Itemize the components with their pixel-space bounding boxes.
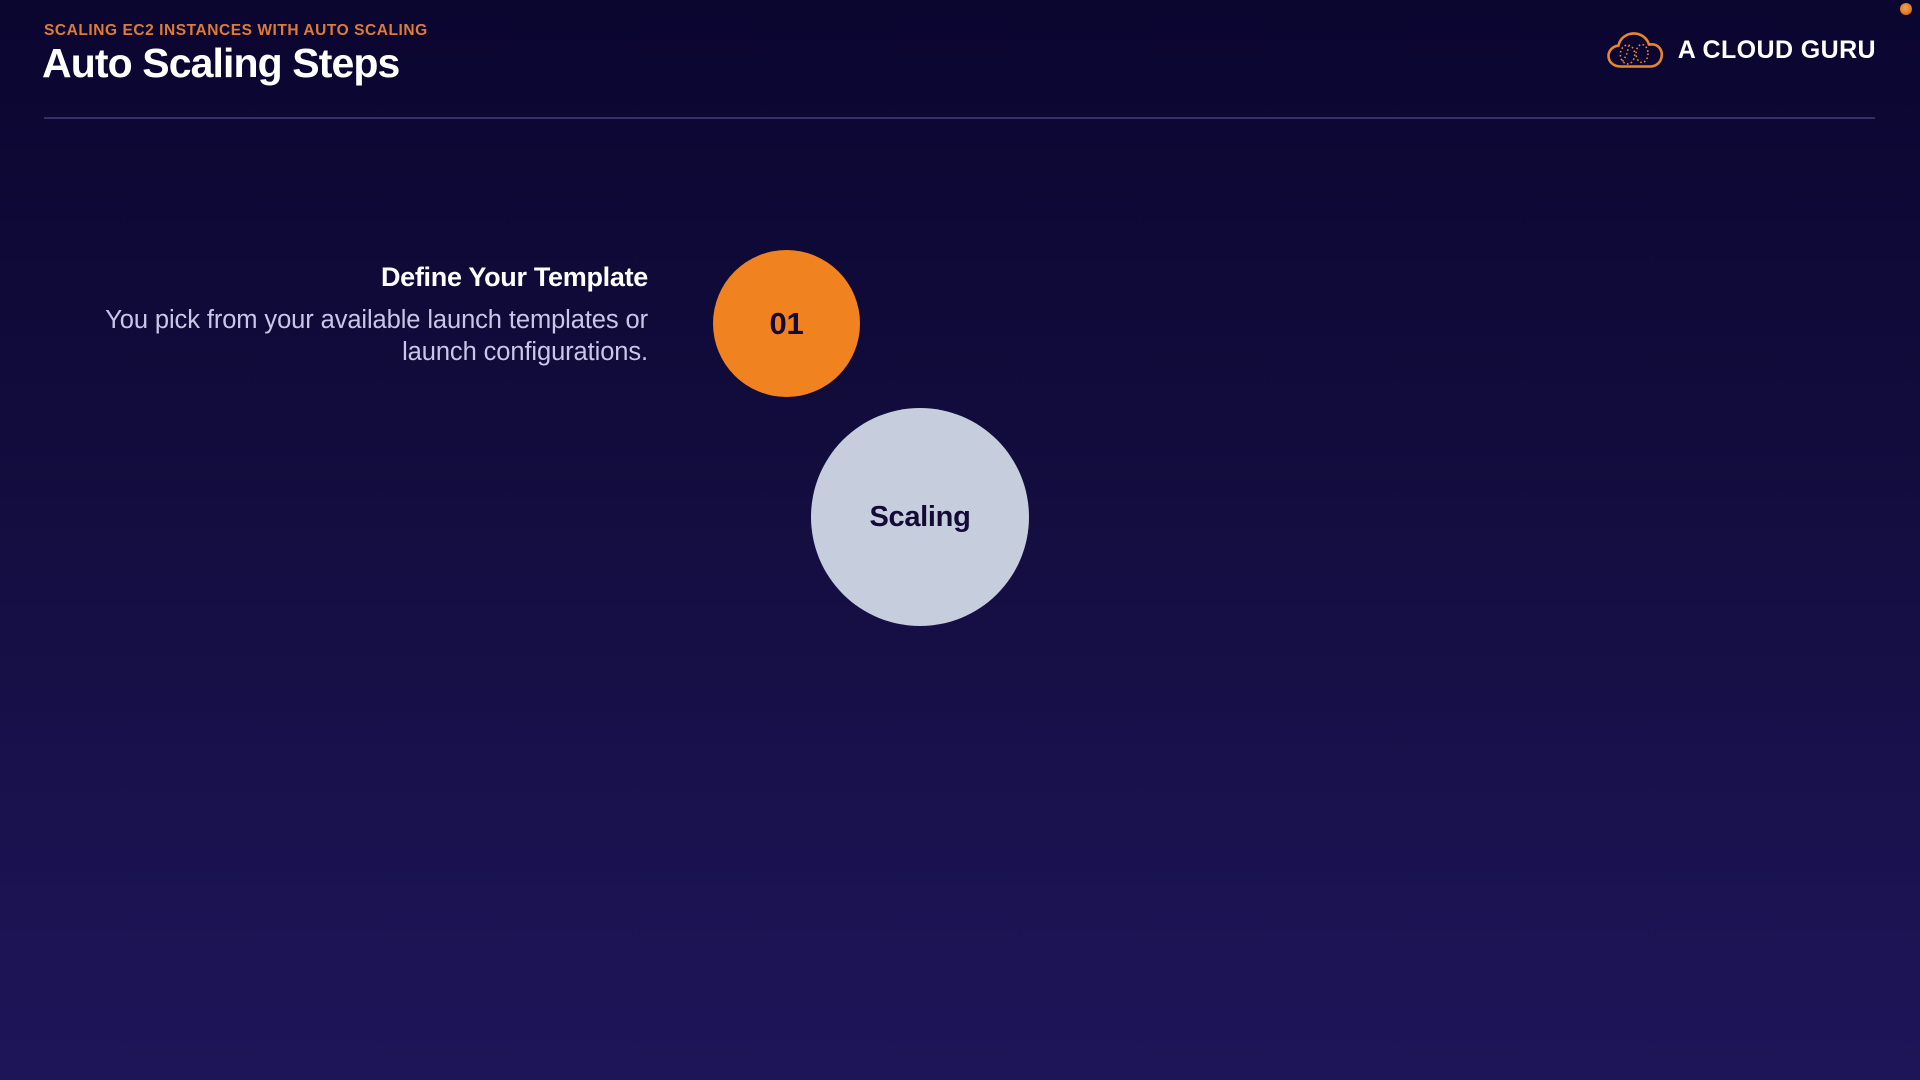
step-row: Define Your Template You pick from your … (0, 249, 1920, 399)
step-heading: Define Your Template (60, 261, 648, 293)
page-title: Auto Scaling Steps (42, 40, 399, 87)
brand-lockup: A CLOUD GURU (1606, 30, 1876, 70)
brand-name: A CLOUD GURU (1678, 36, 1876, 65)
cloud-icon (1606, 30, 1664, 70)
hub-label: Scaling (869, 501, 970, 534)
step-text-block: Define Your Template You pick from your … (60, 261, 648, 368)
header-eyebrow: SCALING EC2 INSTANCES WITH AUTO SCALING (44, 22, 428, 40)
hub-circle: Scaling (811, 408, 1029, 626)
slide-header: SCALING EC2 INSTANCES WITH AUTO SCALING … (44, 0, 1876, 120)
step-description: You pick from your available launch temp… (60, 305, 648, 367)
header-divider (44, 117, 1875, 119)
slide-canvas: SCALING EC2 INSTANCES WITH AUTO SCALING … (0, 0, 1920, 1080)
recording-dot-icon (1900, 3, 1912, 15)
step-number-circle: 01 (713, 250, 860, 397)
step-number-label: 01 (769, 306, 803, 342)
